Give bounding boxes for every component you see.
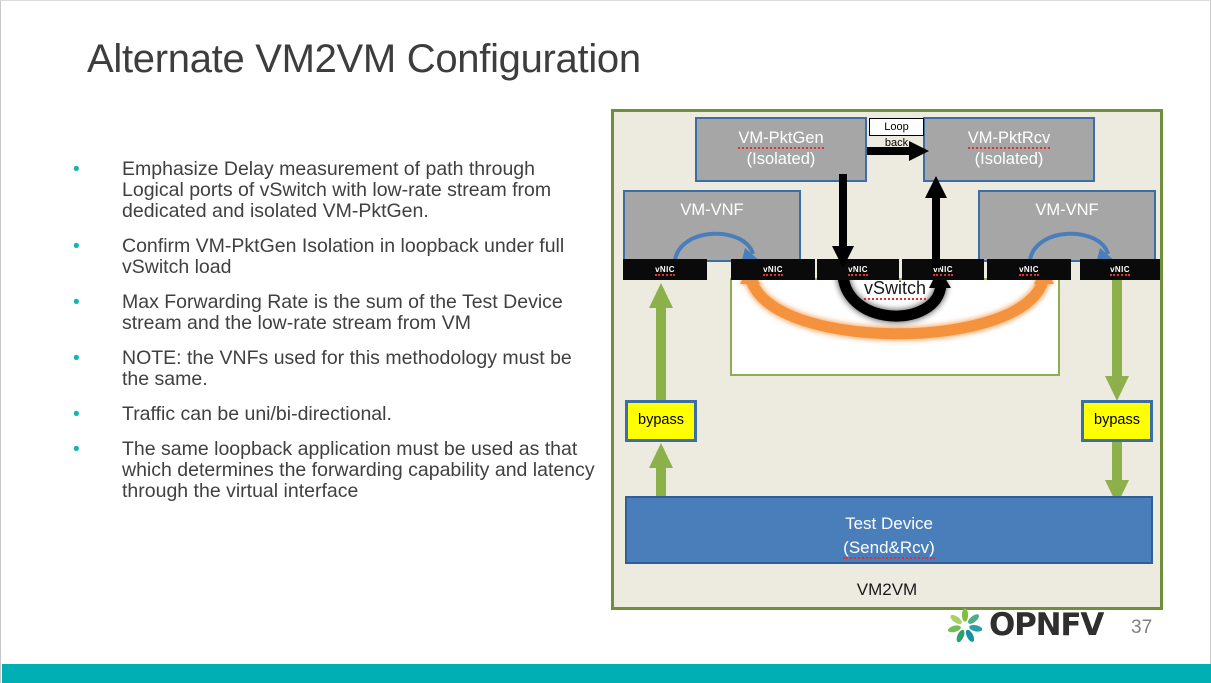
bullet-list: • Emphasize Delay measurement of path th… [67,159,597,516]
vm-vnf-left-label: VM-VNF [625,200,799,221]
vnic-chip-2: vNIC [731,259,815,280]
list-item: • NOTE: the VNFs used for this methodolo… [67,348,597,390]
loop-back-label: Loop back [869,118,924,136]
test-device-line1: Test Device [627,512,1151,536]
vnic-chip-6: vNIC [1080,259,1160,280]
page-number: 37 [1131,617,1152,639]
list-item: • Confirm VM-PktGen Isolation in loopbac… [67,236,597,278]
opnfv-logo: OPNFV [945,607,1103,643]
vm-pktrcv-box: VM-PktRcv (Isolated) [923,117,1095,182]
vm2vm-label: VM2VM [614,580,1160,600]
vm-pktgen-line1: VM-PktGen [697,128,865,149]
page-title: Alternate VM2VM Configuration [87,37,707,82]
list-item: • Max Forwarding Rate is the sum of the … [67,292,597,334]
list-item: • Emphasize Delay measurement of path th… [67,159,597,222]
list-item: • Traffic can be uni/bi-directional. [67,404,597,425]
pktrcv-up-arrow [924,174,948,268]
green-arrow-left-upper [648,282,674,404]
bullet-text: The same loopback application must be us… [122,439,597,502]
vswitch-label: vSwitch [730,278,1060,299]
bullet-text: NOTE: the VNFs used for this methodology… [122,348,597,390]
vm-pktgen-box: VM-PktGen (Isolated) [695,117,867,182]
vm-vnf-right-label: VM-VNF [980,200,1154,221]
vm-pktrcv-line1: VM-PktRcv [925,128,1093,149]
bullet-marker: • [67,404,122,425]
opnfv-petals-icon [945,607,985,643]
pktgen-down-arrow [831,174,855,268]
bullet-text: Emphasize Delay measurement of path thro… [122,159,597,222]
bullet-marker: • [67,439,122,460]
green-arrow-right-upper [1104,280,1130,402]
test-device-box: Test Device (Send&Rcv) [625,496,1153,564]
vnic-chip-5: vNIC [987,259,1071,280]
bullet-marker: • [67,159,122,180]
test-device-line2: (Send&Rcv) [627,536,1151,560]
bullet-marker: • [67,236,122,257]
bypass-left-box: bypass [625,400,697,442]
bullet-text: Traffic can be uni/bi-directional. [122,404,597,425]
bypass-right-box: bypass [1081,400,1153,442]
vm2vm-diagram: vSwitch VM-PktGen (Isolated) VM-PktRcv (… [611,109,1163,610]
bullet-marker: • [67,292,122,313]
vnic-chip-3: vNIC [817,259,899,280]
bullet-text: Max Forwarding Rate is the sum of the Te… [122,292,597,334]
bullet-marker: • [67,348,122,369]
vnic-chip-1: vNIC [623,259,707,280]
list-item: • The same loopback application must be … [67,439,597,502]
bottom-accent-bar [2,664,1211,683]
vm-pktrcv-line2: (Isolated) [925,149,1093,170]
vm-pktgen-line2: (Isolated) [697,149,865,170]
opnfv-wordmark: OPNFV [989,607,1103,643]
vswitch-label-text: vSwitch [864,278,926,300]
bullet-text: Confirm VM-PktGen Isolation in loopback … [122,236,597,278]
slide-canvas: Alternate VM2VM Configuration • Emphasiz… [0,0,1211,683]
